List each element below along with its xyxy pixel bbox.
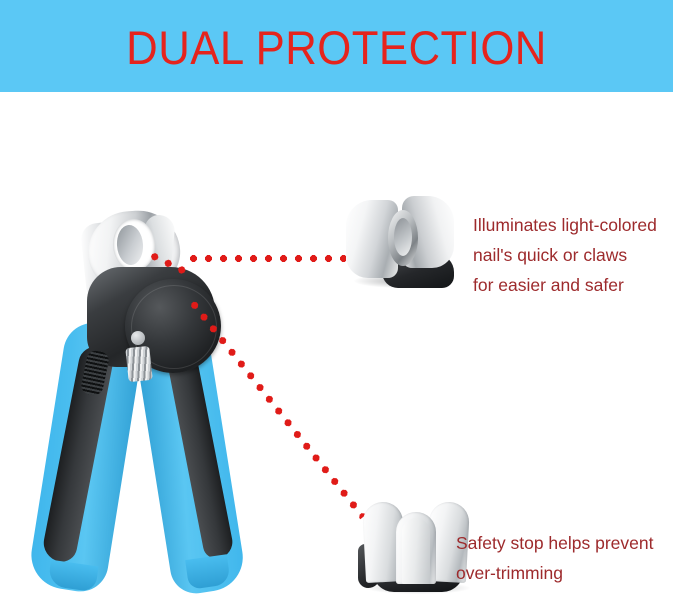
caption-safety-stop: Safety stop helps prevent over-trimming (456, 528, 671, 588)
safety-stop-plate-center-inner (402, 518, 430, 584)
return-spring (125, 346, 152, 382)
blade-detail-opening-core (394, 218, 412, 256)
leader-line-to-blade-detail (186, 255, 346, 262)
infographic-page: DUAL PROTECTION (0, 0, 679, 609)
header-banner: DUAL PROTECTION (0, 0, 673, 92)
detail-image-blade-closeup (344, 192, 460, 292)
pivot-pin (131, 331, 145, 345)
caption-illuminates: Illuminates light-colored nail's quick o… (473, 210, 679, 300)
page-title: DUAL PROTECTION (24, 22, 650, 74)
